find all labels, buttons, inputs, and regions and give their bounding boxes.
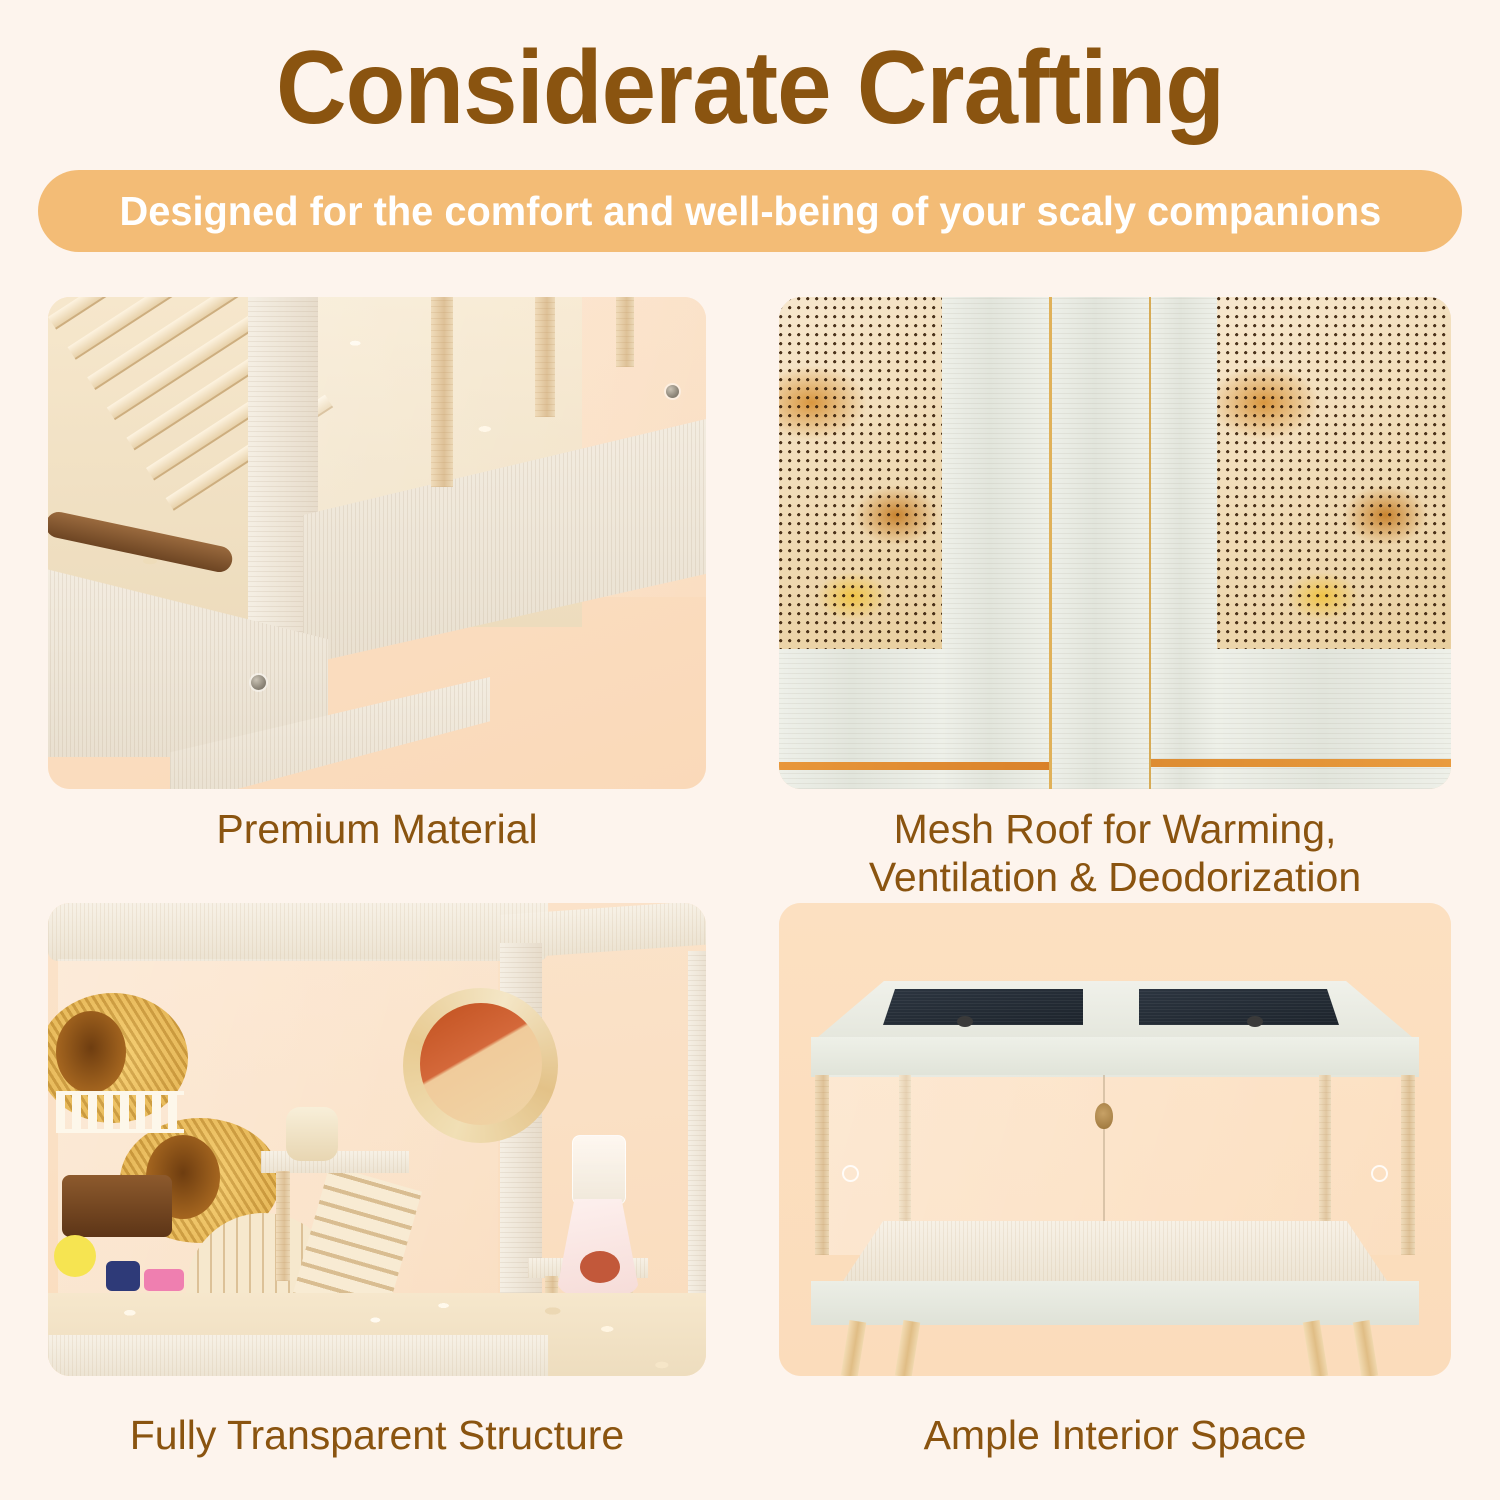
roof-frame-strip (942, 297, 1049, 789)
mesh-window-right (1217, 297, 1451, 649)
yellow-ball-toy (54, 1235, 96, 1277)
pink-toy (144, 1269, 184, 1291)
page-title: Considerate Crafting (45, 0, 1455, 140)
wood-log-hide (62, 1175, 172, 1237)
mesh-window-left (779, 297, 942, 649)
feature-photo-premium-material (48, 297, 706, 789)
roof-mesh-panel-right (1139, 989, 1339, 1025)
cage-bottom-rail (811, 1281, 1419, 1325)
cage-top-front-rail (811, 1037, 1419, 1077)
feature-photo-transparent-structure (48, 903, 706, 1376)
platform-leg (276, 1171, 290, 1281)
straw-hut-entrance (56, 1011, 126, 1093)
roof-frame-strip (1049, 297, 1151, 789)
blue-toy (106, 1261, 140, 1291)
feature-photo-interior-space (779, 903, 1451, 1376)
picket-fence (56, 1091, 184, 1133)
cage-right-post (1401, 1075, 1415, 1255)
support-dowel (535, 297, 555, 417)
orange-trim-line (1151, 759, 1451, 767)
door-latch (1095, 1103, 1113, 1129)
screw-icon (251, 675, 266, 690)
caption-mesh-roof: Mesh Roof for Warming, Ventilation & Deo… (779, 806, 1451, 901)
cage-top-rail (48, 903, 548, 961)
orange-trim-line (779, 762, 1049, 770)
caption-transparent-structure: Fully Transparent Structure (48, 1412, 706, 1460)
roof-frame-strip (1151, 297, 1217, 789)
vent-hole-icon (1371, 1165, 1388, 1182)
support-dowel (431, 297, 453, 487)
cage-right-post (688, 951, 706, 1351)
roof-knob (957, 1016, 973, 1027)
cage-floor (839, 1221, 1391, 1287)
cage-bottom-rail (48, 1335, 548, 1376)
subtitle-banner: Designed for the comfort and well-being … (38, 170, 1462, 252)
vent-hole-icon (842, 1165, 859, 1182)
roof-mesh-panel-left (883, 989, 1083, 1025)
water-bottle-reservoir (572, 1135, 626, 1205)
roof-knob (1247, 1016, 1263, 1027)
subtitle-text: Designed for the comfort and well-being … (119, 188, 1381, 235)
water-bottle-badge (580, 1251, 620, 1283)
caption-interior-space: Ample Interior Space (779, 1412, 1451, 1460)
support-dowel (616, 297, 634, 367)
screw-icon (666, 385, 679, 398)
caption-premium-material: Premium Material (48, 806, 706, 854)
cage-left-post (815, 1075, 829, 1255)
roof-lower-band (1217, 649, 1451, 789)
feature-photo-mesh-roof (779, 297, 1451, 789)
running-wheel-inner (420, 1003, 542, 1125)
bear-toy (286, 1107, 338, 1161)
